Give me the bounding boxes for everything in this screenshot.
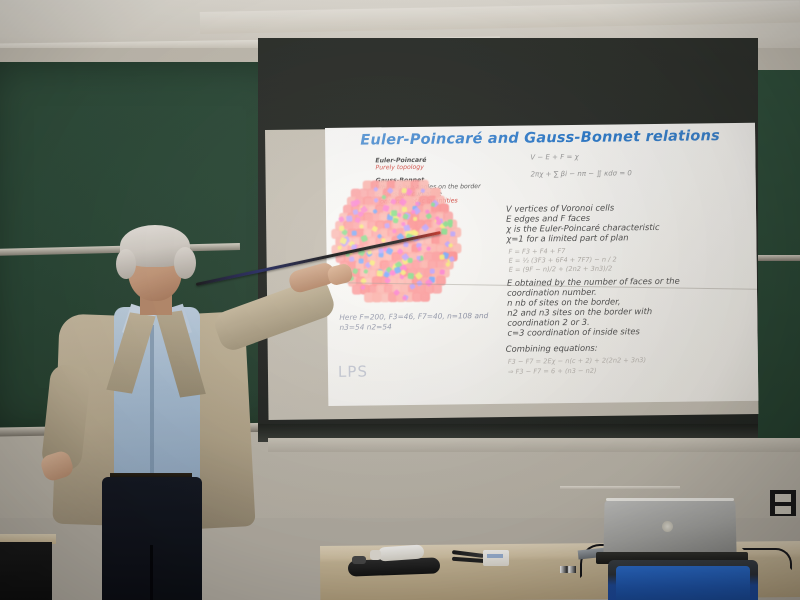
wall-socket-bottom <box>775 506 791 514</box>
hair-right-side <box>174 247 196 279</box>
white-box <box>483 550 509 566</box>
tiling-accent-cell <box>450 231 455 236</box>
tiling-accent-cell <box>417 255 421 259</box>
tiling-cell <box>432 284 442 294</box>
tiling-accent-cell <box>439 269 444 274</box>
euler-equation: V − E + F = χ <box>530 153 578 162</box>
tiling-accent-cell <box>360 285 365 290</box>
glasses-case-clip <box>352 556 366 564</box>
laptop-logo <box>662 521 673 532</box>
projected-slide: Euler-Poincaré and Gauss-Bonnet relation… <box>325 123 758 406</box>
tiling-accent-cell <box>349 257 354 262</box>
tiling-accent-cell <box>401 188 407 194</box>
small-equation-3: E = (9F − n)/2 + (2n2 + 3n3)/2 <box>509 265 613 274</box>
wall-trim <box>560 486 680 490</box>
podium <box>0 542 52 600</box>
tiling-accent-cell <box>441 228 447 234</box>
combining-equation-2: ⇒ F3 − F7 = 6 + (n3 − n2) <box>508 367 597 376</box>
white-box-label <box>487 554 503 558</box>
tiling-cell <box>420 292 430 302</box>
tiling-accent-cell <box>346 215 353 222</box>
figure-caption-line-2: n3=54 n2=54 <box>339 322 391 332</box>
small-equation-2: E = ½ (3F3 + 6F4 + 7F7) − n / 2 <box>509 255 617 264</box>
water-bottle-cap <box>370 550 381 560</box>
tiling-accent-cell <box>402 207 407 212</box>
explanation-line-6: c=3 coordination of inside sites <box>507 326 640 338</box>
laptop-lid-top-edge <box>606 498 734 501</box>
definition-line-1: V vertices of Voronoi cells <box>506 202 614 213</box>
combining-equations-heading: Combining equations: <box>506 343 598 354</box>
tiling-accent-cell <box>439 254 444 259</box>
wall-ledge <box>268 438 800 452</box>
definition-line-4: χ=1 for a limited part of plan <box>506 232 628 243</box>
lecture-photo: Euler-Poincaré and Gauss-Bonnet relation… <box>0 0 800 600</box>
chair-backrest <box>616 566 750 600</box>
tiling-accent-cell <box>430 269 435 274</box>
combining-equation-1: F3 − F7 = 2Eχ − n(c + 2) + 2(2n2 + 3n3) <box>508 356 646 366</box>
tiling-accent-cell <box>408 273 414 279</box>
tiling-accent-cell <box>403 241 408 246</box>
tiling-accent-cell <box>425 209 430 214</box>
usb-adapter <box>560 566 576 573</box>
shirt-placket <box>150 325 154 480</box>
tiling-accent-cell <box>401 222 405 226</box>
figure-caption-line-1: Here F=200, F3=46, F7=40, n=108 and <box>339 311 488 322</box>
tiling-accent-cell <box>391 210 397 216</box>
slide-title: Euler-Poincaré and Gauss-Bonnet relation… <box>325 128 755 149</box>
presenter <box>40 215 270 600</box>
small-equation-1: F = F3 + F4 + F7 <box>508 247 565 256</box>
gauss-bonnet-equation: 2πχ + ∑ βi − nπ − ∬ κdσ = 0 <box>531 169 632 178</box>
tiling-accent-cell <box>408 258 414 264</box>
tiling-accent-cell <box>383 222 389 228</box>
tiling-accent-cell <box>340 225 345 230</box>
hair-left-side <box>116 249 136 279</box>
trouser-seam <box>150 545 153 600</box>
lps-logo: LPS <box>338 362 368 380</box>
euler-poincare-note: Purely topology <box>375 164 423 172</box>
tiling-accent-cell <box>378 248 384 254</box>
wall-socket-top <box>775 494 791 502</box>
tiling-accent-cell <box>358 259 363 264</box>
tiling-accent-cell <box>376 270 383 277</box>
